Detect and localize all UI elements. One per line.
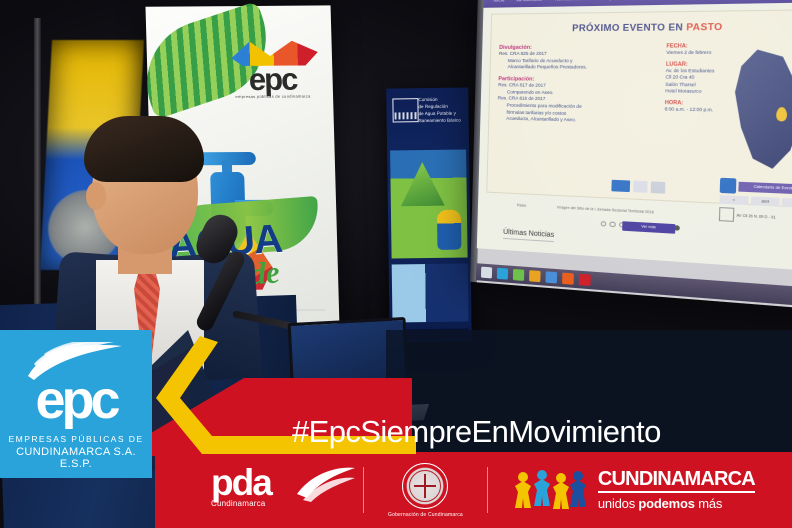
laptop: [288, 317, 411, 419]
nav-item-2[interactable]: Normatividad: [555, 0, 583, 1]
hair: [84, 116, 204, 182]
office-icon[interactable]: [529, 270, 541, 282]
calendar-nav-row[interactable]: < abril >: [719, 195, 792, 208]
start-icon[interactable]: [481, 267, 492, 279]
address-text: AV Cll 26 N. 69 D - 91: [736, 213, 775, 219]
flag-pole: [34, 18, 41, 318]
epc-swoosh-icon: [225, 40, 318, 67]
projected-webpage: Inicio La Comisión Normatividad Particip…: [477, 0, 792, 271]
laptop-screen: [288, 317, 411, 419]
store-icon[interactable]: [513, 269, 524, 281]
slide-title-highlight: PASTO: [686, 21, 723, 32]
cra-rollup-banner: Comisión de Regulación de Agua Potable y…: [386, 87, 472, 342]
slide-left-column: Divulgación: Res. CRA 825 de 2017 Marco …: [497, 39, 660, 126]
slide-line: Alcantarillado Pequeños Prestadores.: [499, 64, 660, 72]
calendar-widget[interactable]: Calendario de Eventos < abril > AV Cll 2…: [719, 178, 792, 226]
ear: [86, 182, 106, 210]
cra-line-4: Saneamiento Básico: [419, 117, 466, 125]
epc-banner-logo-word: epc: [226, 65, 319, 94]
ver-mas-button[interactable]: Ver más: [622, 221, 675, 234]
epc-banner-logo-sub: empresas públicas de cundinamarca: [227, 93, 319, 99]
internet-explorer-icon[interactable]: [497, 268, 508, 280]
chrome-icon[interactable]: [545, 271, 557, 283]
calendar-month-label: abril: [750, 197, 780, 207]
pdf-icon[interactable]: [579, 274, 591, 286]
epc-banner-logo: epc empresas públicas de cundinamarca: [225, 40, 319, 100]
screenshot-stage: epc empresas públicas de cundinamarca AG…: [0, 0, 792, 528]
slide-title-prefix: PRÓXIMO EVENTO EN: [572, 22, 683, 34]
cra-mascot-icon: [437, 210, 462, 250]
calendar-icon: [720, 178, 737, 194]
projection-screen: Inicio La Comisión Normatividad Particip…: [470, 0, 792, 310]
cra-banner-text: Comisión de Regulación de Agua Potable y…: [418, 96, 465, 124]
nav-item-1[interactable]: La Comisión: [517, 0, 543, 2]
carousel-dot[interactable]: [600, 221, 606, 227]
nav-item-0[interactable]: Inicio: [493, 0, 504, 2]
calendar-widget-title: Calendario de Eventos: [738, 181, 792, 194]
slide-columns: Divulgación: Res. CRA 825 de 2017 Marco …: [489, 32, 792, 130]
calendar-prev-button[interactable]: <: [719, 195, 748, 205]
building-icon: [719, 207, 735, 222]
webpage-navbar[interactable]: Inicio La Comisión Normatividad Particip…: [483, 0, 792, 8]
footnote-label: Pasto: [517, 203, 526, 208]
cra-wave-logo-icon: [392, 98, 418, 122]
calendar-widget-header: Calendario de Eventos: [720, 178, 792, 197]
carousel-dot[interactable]: [609, 222, 615, 228]
slide-sponsor-badges: [611, 180, 665, 194]
news-heading: Últimas Noticias: [503, 229, 554, 242]
slide-title: PRÓXIMO EVENTO EN PASTO: [492, 10, 792, 34]
firefox-icon[interactable]: [562, 273, 574, 285]
map-pin-icon: [776, 107, 787, 122]
sponsor-badge-2: [633, 181, 648, 193]
footnote-text: Imagen del Sitio de la I Jornada Sectori…: [557, 205, 654, 214]
cra-landscape-graphic: [390, 149, 468, 258]
sponsor-badge-cra: [611, 180, 630, 192]
event-photograph: epc empresas públicas de cundinamarca AG…: [0, 0, 792, 528]
mountain-icon: [400, 162, 445, 207]
sponsor-badge-3: [651, 181, 666, 193]
address-block: AV Cll 26 N. 69 D - 91: [719, 207, 792, 226]
calendar-next-button[interactable]: >: [782, 198, 792, 208]
slide-right-column: FECHA: Viernes 2 de febrero LUGAR: Av. d…: [664, 38, 792, 129]
cra-photo-strip: [392, 263, 469, 322]
